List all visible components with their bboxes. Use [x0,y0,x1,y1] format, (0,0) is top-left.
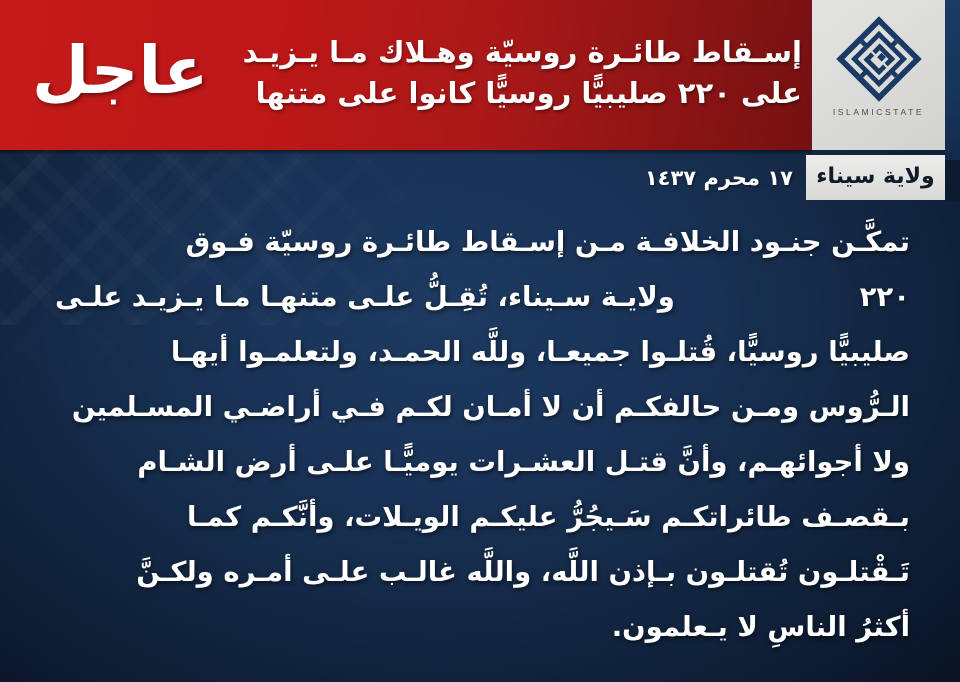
logo-panel: ISLAMICSTATE [812,0,945,150]
statement-line-number: ٢٢٠ [860,270,910,325]
statement-line: بـقصـف طائراتكـم سَـيجُرُّ عليكـم الويـل… [55,490,910,545]
statement-line: صليبيًّا روسيًّا، قُتلـوا جميعـا، وللَّه… [55,325,910,380]
headline-line-2: على ٢٢٠ صليبيًّا روسيًّا كانوا على متنها [214,73,802,114]
banner-headline: إسـقاط طائـرة روسيّة وهـلاك مـا يـزيـد ع… [214,32,802,118]
statement-line: ولا أجوائهـم، وأنَّ قتـل العشـرات يوميًّ… [55,435,910,490]
headline-line-1: إسـقاط طائـرة روسيّة وهـلاك مـا يـزيـد [214,32,802,73]
meta-bar: ١٧ محرم ١٤٣٧ ولاية سيناء [0,155,960,200]
hijri-date: ١٧ محرم ١٤٣٧ [645,155,807,200]
breaking-news-banner: إسـقاط طائـرة روسيّة وهـلاك مـا يـزيـد ع… [0,0,812,150]
statement-line: أكثرُ الناسِ لا يـعلمون. [55,600,910,655]
statement-line-text: ولايـة سـيناء، تُقِـلُّ علـى متنهـا مـا … [55,270,675,325]
islamic-state-emblem-icon [827,7,931,111]
statement-line: ٢٢٠ولايـة سـيناء، تُقِـلُّ علـى متنهـا م… [55,270,910,325]
statement-body: تمكَّـن جنـود الخلافـة مـن إسـقاط طائـرة… [55,215,910,655]
right-edge-strip [945,0,960,160]
poster-canvas: إسـقاط طائـرة روسيّة وهـلاك مـا يـزيـد ع… [0,0,960,682]
statement-line: تمكَّـن جنـود الخلافـة مـن إسـقاط طائـرة… [55,215,910,270]
wilayah-tag: ولاية سيناء [806,155,945,200]
urgent-label: عاجل [14,38,214,112]
statement-line: الـرُّوس ومـن حالفكـم أن لا أمـان لكـم ف… [55,380,910,435]
logo-caption: ISLAMICSTATE [833,107,924,117]
statement-line: تَـقْتلـون تُقتلـون بـإذن اللَّه، واللَّ… [55,545,910,600]
